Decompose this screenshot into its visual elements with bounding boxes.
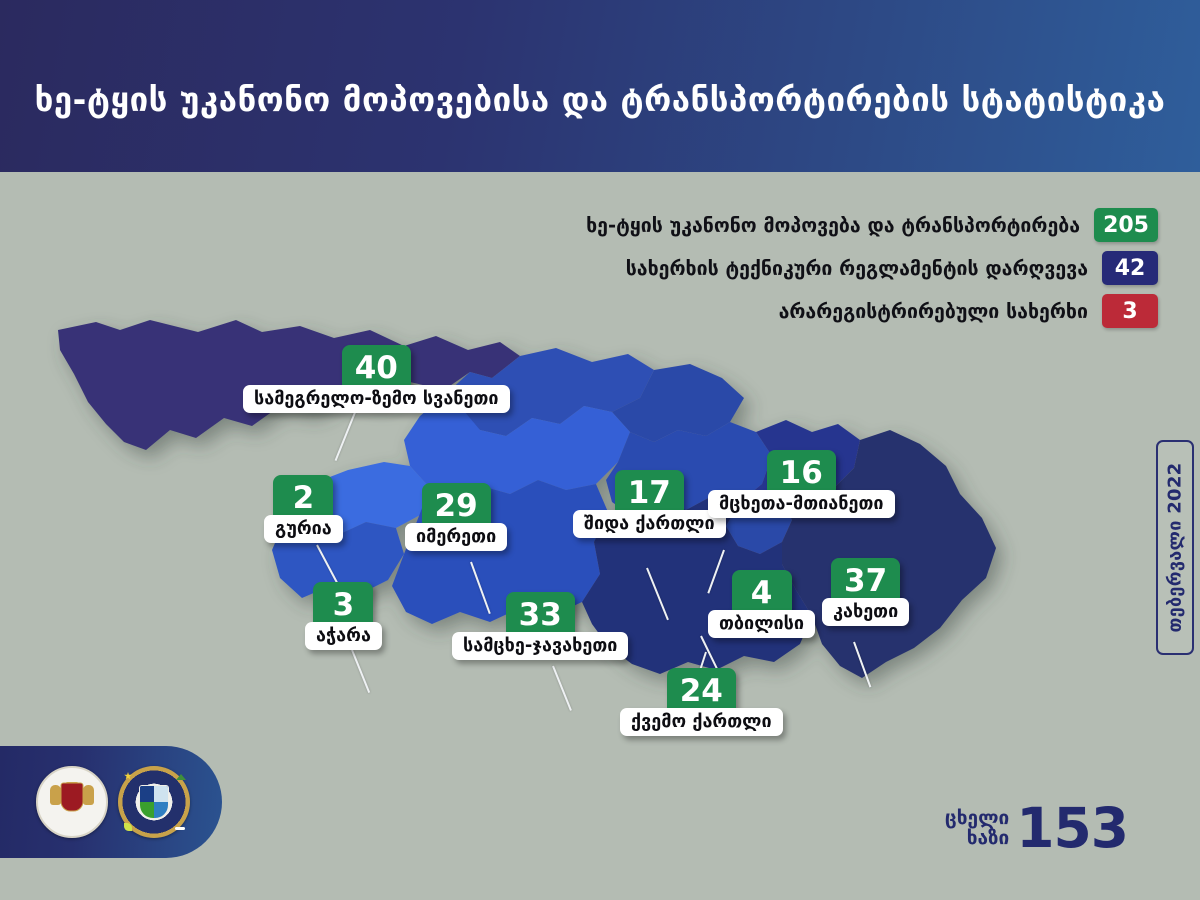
map-marker-kakheti: 37 კახეთი <box>822 558 909 626</box>
hotline-words: ცხელი ხაზი <box>945 809 1009 848</box>
marker-label: მცხეთა-მთიანეთი <box>708 490 895 518</box>
page-title: ხე-ტყის უკანონო მოპოვებისა და ტრანსპორტი… <box>35 54 1166 119</box>
marker-label: გურია <box>264 515 343 543</box>
lion-left-icon <box>50 785 61 805</box>
map-marker-tbilisi: 4 თბილისი <box>708 570 815 638</box>
marker-label: ქვემო ქართლი <box>620 708 783 736</box>
map-marker-mtskheta: 16 მცხეთა-მთიანეთი <box>708 450 895 518</box>
map-marker-guria: 2 გურია <box>264 475 343 543</box>
date-tab: თებერვალი 2022 <box>1156 440 1194 655</box>
hotline: ცხელი ხაზი 153 <box>945 803 1128 854</box>
map-marker-samegrelo: 40 სამეგრელო-ზემო სვანეთი <box>243 345 510 413</box>
wave-icon <box>175 827 185 830</box>
logo-banner <box>0 746 222 858</box>
infographic-poster: ხე-ტყის უკანონო მოპოვებისა და ტრანსპორტი… <box>0 0 1200 900</box>
mountain-icon <box>176 774 186 780</box>
marker-label: თბილისი <box>708 610 815 638</box>
map-marker-imereti: 29 იმერეთი <box>405 483 507 551</box>
hotline-line2: ხაზი <box>967 829 1010 848</box>
marker-label: იმერეთი <box>405 523 507 551</box>
map-marker-adjara: 3 აჭარა <box>305 582 382 650</box>
ministry-coat-of-arms-icon <box>36 766 108 838</box>
shield-quadrant <box>154 802 168 818</box>
date-label: თებერვალი 2022 <box>1165 463 1186 633</box>
map-marker-kvemo-kartli: 24 ქვემო ქართლი <box>620 668 783 736</box>
map-marker-shida-kartli: 17 შიდა ქართლი <box>573 470 726 538</box>
sun-icon <box>124 772 132 780</box>
shield-quadrant <box>154 786 168 802</box>
map-svg <box>0 150 1130 810</box>
marker-label: აჭარა <box>305 622 382 650</box>
shield-quadrant <box>140 802 154 818</box>
marker-label: სამცხე-ჯავახეთი <box>452 632 628 660</box>
leaf-icon <box>124 823 132 831</box>
marker-label: კახეთი <box>822 598 909 626</box>
header-banner: ხე-ტყის უკანონო მოპოვებისა და ტრანსპორტი… <box>0 0 1200 172</box>
georgia-map: 40 სამეგრელო-ზემო სვანეთი 2 გურია 29 იმე… <box>0 150 1130 810</box>
map-marker-samtskhe: 33 სამცხე-ჯავახეთი <box>452 592 628 660</box>
marker-label: სამეგრელო-ზემო სვანეთი <box>243 385 510 413</box>
environmental-supervision-seal-icon <box>118 766 190 838</box>
quad-shield-icon <box>139 785 169 819</box>
hotline-number: 153 <box>1016 803 1128 854</box>
hotline-line1: ცხელი <box>945 809 1009 828</box>
shield-quadrant <box>140 786 154 802</box>
shield-icon <box>61 782 84 811</box>
lion-right-icon <box>83 785 94 805</box>
marker-label: შიდა ქართლი <box>573 510 726 538</box>
